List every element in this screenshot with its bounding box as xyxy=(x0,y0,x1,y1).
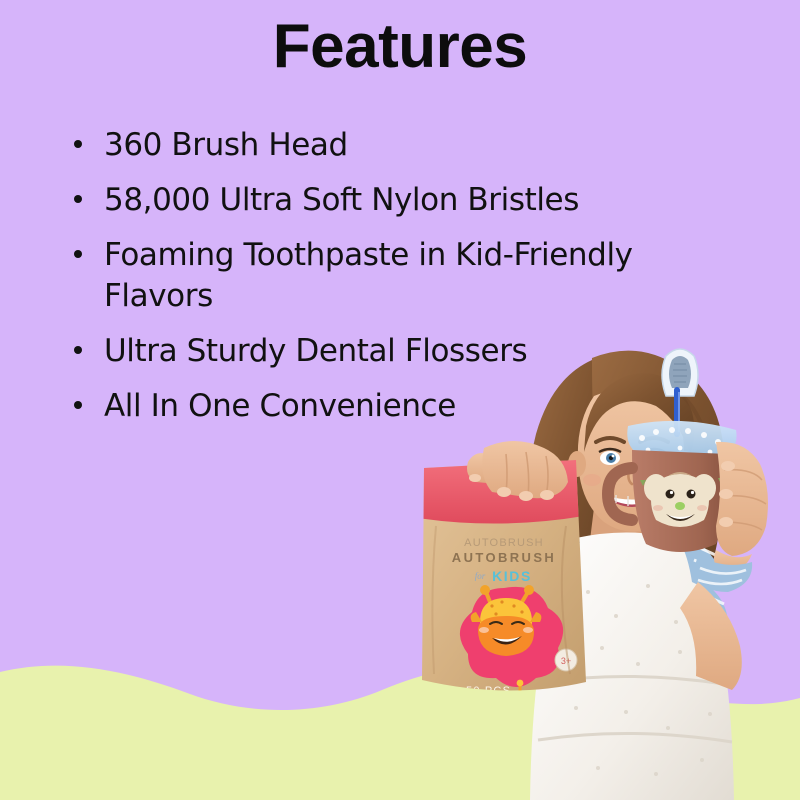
svg-text:AUTOBRUSH: AUTOBRUSH xyxy=(452,550,556,565)
girl-right-hand xyxy=(714,442,768,572)
bullet-icon xyxy=(74,195,82,203)
svg-text:3+: 3+ xyxy=(561,656,571,666)
feature-label: All In One Convenience xyxy=(104,388,456,424)
svg-text:KIDS: KIDS xyxy=(492,568,532,584)
feature-list: 360 Brush Head 58,000 Ultra Soft Nylon B… xyxy=(66,125,686,440)
svg-text:for: for xyxy=(475,571,486,581)
bullet-icon xyxy=(74,346,82,354)
list-item: Ultra Sturdy Dental Flossers xyxy=(66,331,686,372)
list-item: Foaming Toothpaste in Kid-Friendly Flavo… xyxy=(66,235,686,317)
feature-label: 360 Brush Head xyxy=(104,127,348,163)
svg-text:50 PCS: 50 PCS xyxy=(466,685,511,697)
feature-poster: AUTOBRUSH AUTOBRUSH for KIDS xyxy=(0,0,800,800)
feature-label: 58,000 Ultra Soft Nylon Bristles xyxy=(104,182,579,218)
feature-label: Ultra Sturdy Dental Flossers xyxy=(104,333,527,369)
list-item: 58,000 Ultra Soft Nylon Bristles xyxy=(66,180,686,221)
bullet-icon xyxy=(74,401,82,409)
svg-text:AUTOBRUSH: AUTOBRUSH xyxy=(464,537,544,549)
bullet-icon xyxy=(74,250,82,258)
list-item: 360 Brush Head xyxy=(66,125,686,166)
feature-label: Foaming Toothpaste in Kid-Friendly Flavo… xyxy=(104,237,633,314)
list-item: All In One Convenience xyxy=(66,386,686,427)
bullet-icon xyxy=(74,140,82,148)
page-title: Features xyxy=(0,16,800,78)
